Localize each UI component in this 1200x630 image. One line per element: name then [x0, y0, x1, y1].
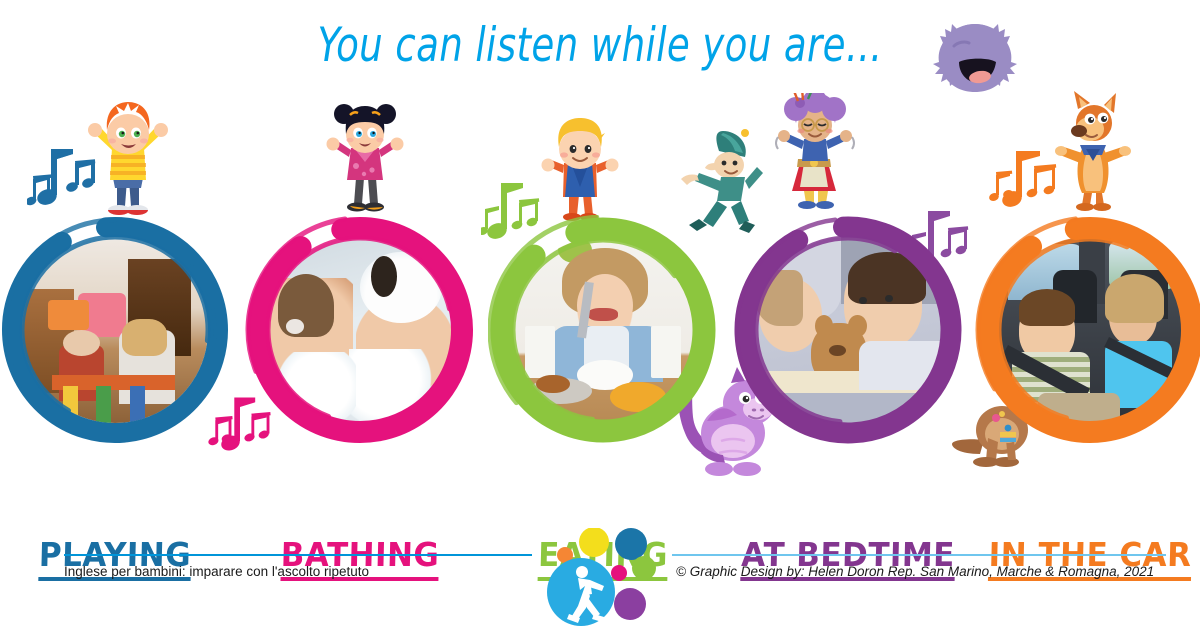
title-bar: You can listen while you are...: [0, 8, 1200, 98]
orange-brush-circle-icon: [975, 215, 1200, 445]
circle-playing[interactable]: [0, 215, 230, 445]
blue-brush-circle-icon: [0, 215, 230, 445]
circle-at-bedtime[interactable]: [733, 215, 963, 445]
card-playing[interactable]: PLAYING: [0, 95, 235, 495]
green-brush-circle-icon: [488, 215, 718, 445]
orange-haired-boy-mascot-icon: [83, 100, 173, 220]
dark-haired-girl-mascot-icon: [320, 100, 410, 220]
purple-haired-grandma-mascot-icon: [770, 93, 860, 213]
helen-doron-walking-figure-logo[interactable]: [534, 528, 658, 628]
orange-fox-dog-mascot-icon: [1048, 91, 1138, 211]
circle-bathing[interactable]: [245, 215, 475, 445]
purple-brush-circle-icon: [733, 215, 963, 445]
footer-divider-left: [64, 554, 532, 556]
footer-right-text: © Graphic Design by: Helen Doron Rep. Sa…: [676, 564, 1154, 579]
card-bathing[interactable]: BATHING: [240, 95, 480, 495]
magenta-brush-circle-icon: [245, 215, 475, 445]
card-at-bedtime[interactable]: AT BEDTIME: [728, 95, 968, 495]
footer-left-text: Inglese per bambini: imparare con l'asco…: [64, 564, 369, 579]
circle-eating[interactable]: [488, 215, 718, 445]
card-in-the-car[interactable]: IN THE CAR: [970, 95, 1200, 495]
card-eating[interactable]: EATING: [483, 95, 723, 495]
purple-furry-monster-icon: [932, 22, 1018, 96]
footer-divider-right: [672, 554, 1166, 556]
slide-canvas: You can listen while you are...: [0, 0, 1200, 630]
footer: Inglese per bambini: imparare con l'asco…: [0, 520, 1200, 630]
circle-in-the-car[interactable]: [975, 215, 1200, 445]
